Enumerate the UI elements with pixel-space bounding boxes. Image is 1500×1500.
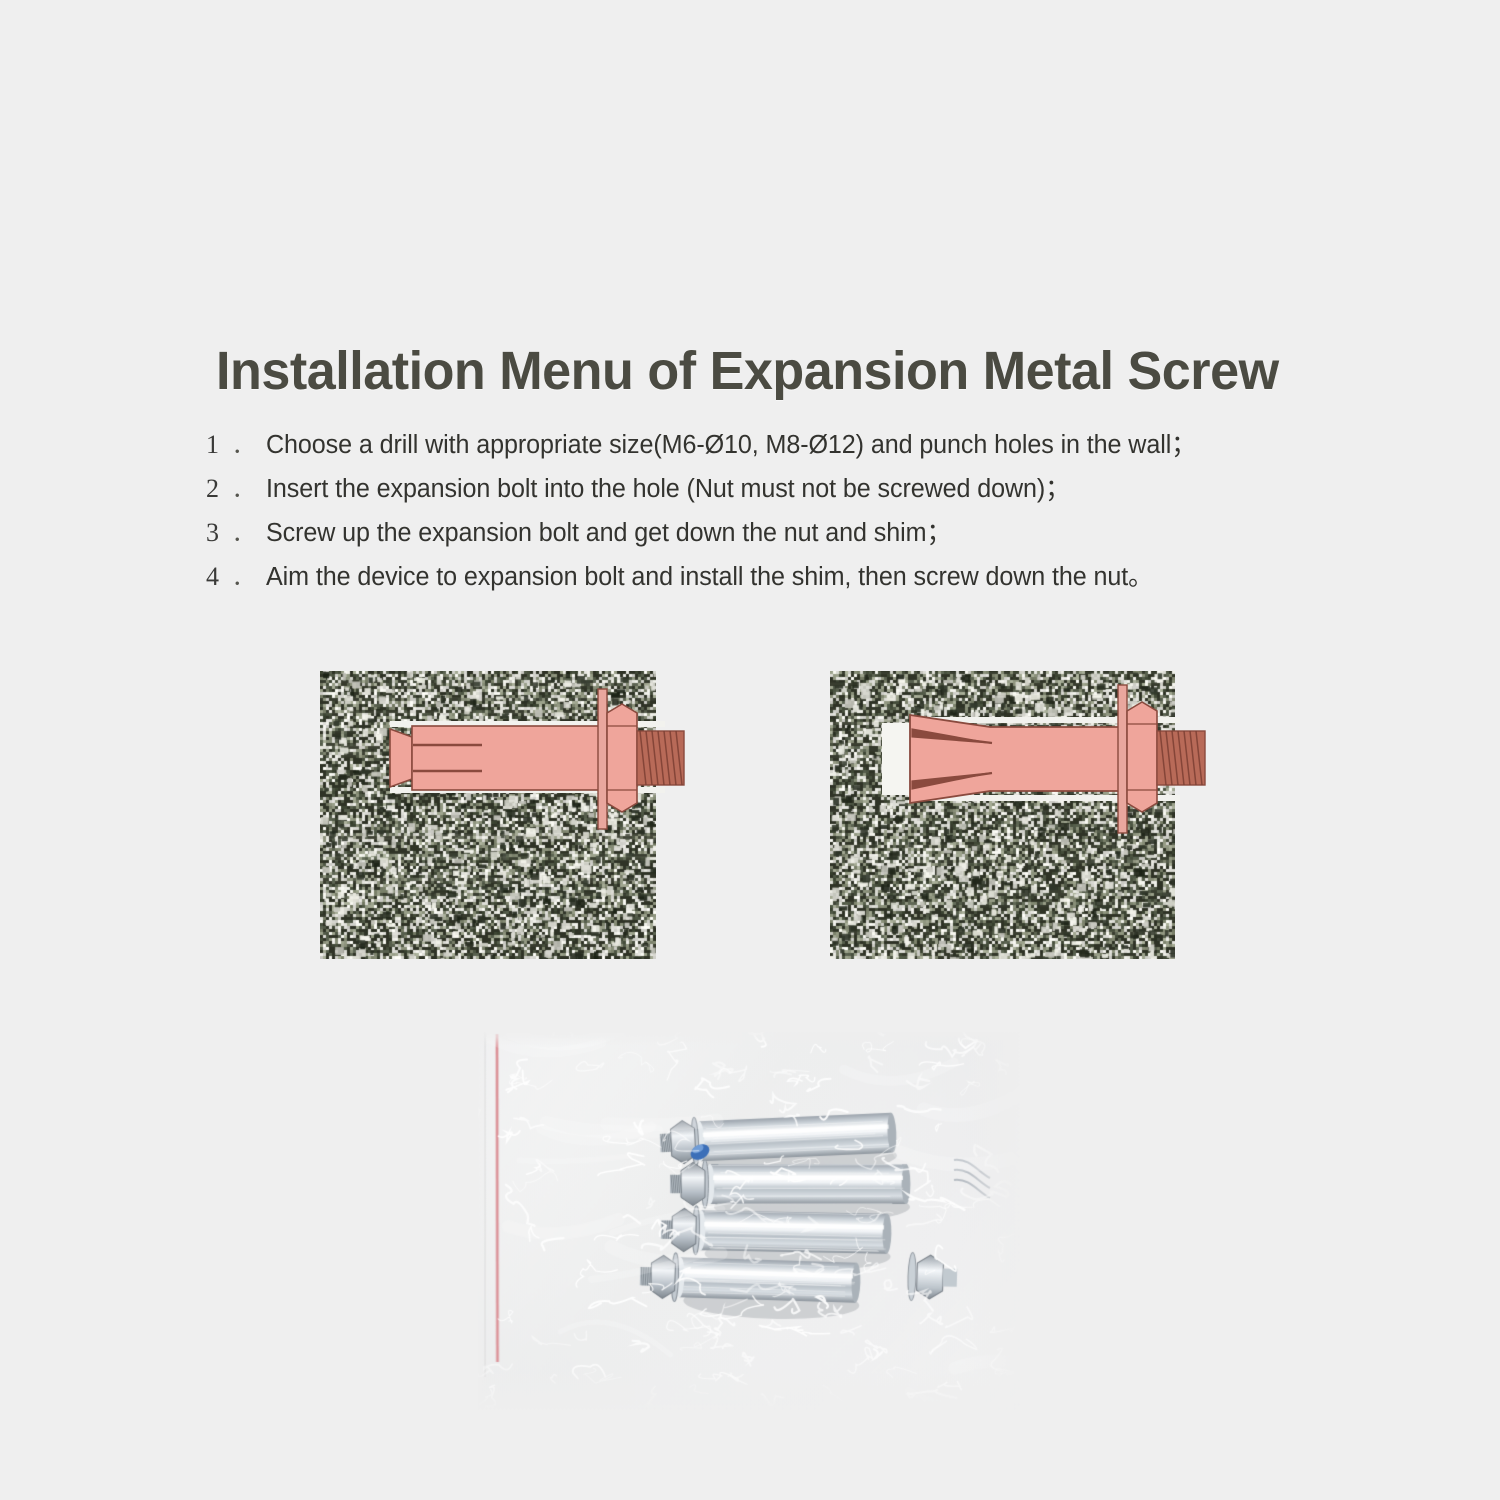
- concrete-wall-texture: [320, 671, 656, 959]
- list-item: 4 ． Aim the device to expansion bolt and…: [206, 556, 1386, 600]
- step-text: Choose a drill with appropriate size(M6-…: [266, 424, 1196, 461]
- step-number: 2: [206, 474, 228, 504]
- step-number: 3: [206, 518, 228, 548]
- product-photo-expansion-bolts-bag: [478, 1032, 1020, 1410]
- step-separator: ．: [228, 472, 266, 504]
- concrete-wall-texture: [830, 671, 1175, 959]
- figure-bolt-inserted-unexpanded: [320, 671, 656, 959]
- instruction-steps-list: 1 ． Choose a drill with appropriate size…: [206, 424, 1386, 600]
- figure-bolt-expanded: [830, 671, 1175, 959]
- list-item: 1 ． Choose a drill with appropriate size…: [206, 424, 1386, 468]
- step-number: 4: [206, 562, 228, 592]
- step-text: Screw up the expansion bolt and get down…: [266, 512, 951, 549]
- step-number: 1: [206, 430, 228, 460]
- step-separator: ．: [228, 560, 266, 592]
- step-separator: ．: [228, 428, 266, 460]
- page-title: Installation Menu of Expansion Metal Scr…: [216, 340, 1335, 402]
- list-item: 2 ． Insert the expansion bolt into the h…: [206, 468, 1386, 512]
- step-text: Aim the device to expansion bolt and ins…: [266, 556, 1153, 593]
- list-item: 3 ． Screw up the expansion bolt and get …: [206, 512, 1386, 556]
- step-separator: ．: [228, 516, 266, 548]
- step-text: Insert the expansion bolt into the hole …: [266, 468, 1070, 505]
- product-instruction-sheet: Installation Menu of Expansion Metal Scr…: [0, 0, 1500, 1500]
